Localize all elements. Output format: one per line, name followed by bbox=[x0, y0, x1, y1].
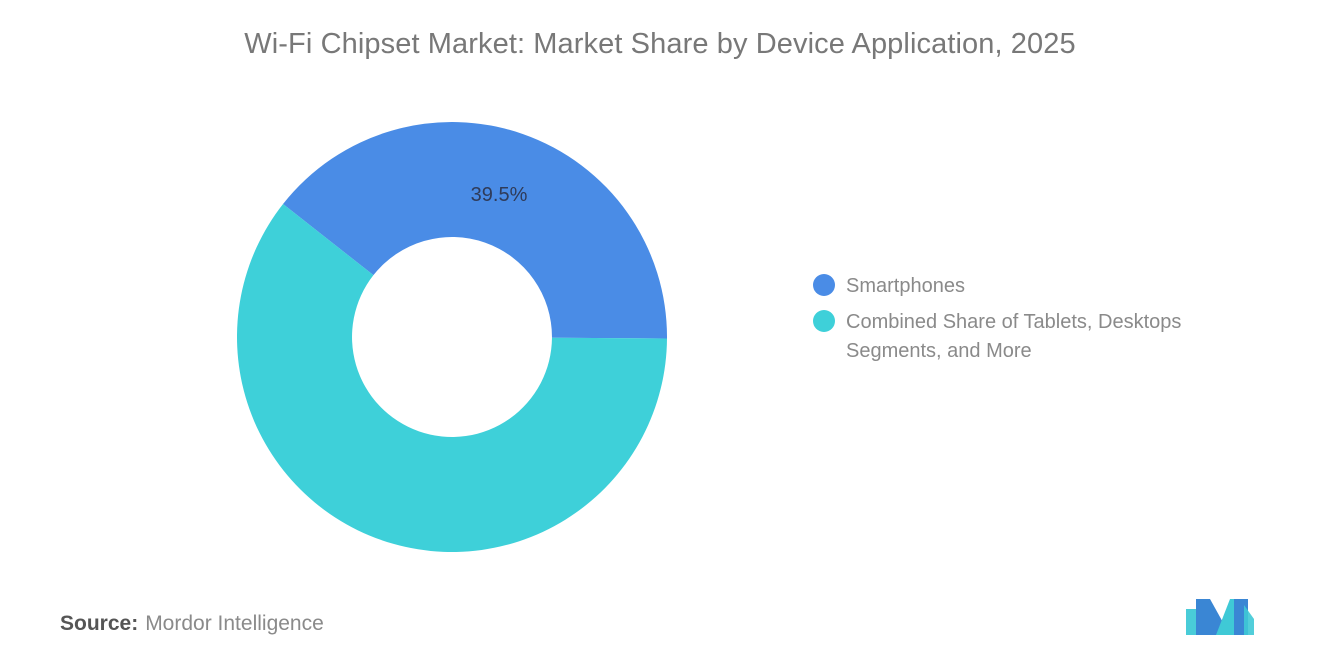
mordor-intelligence-logo-icon bbox=[1184, 597, 1256, 637]
donut-svg bbox=[237, 122, 667, 552]
chart-canvas: Wi-Fi Chipset Market: Market Share by De… bbox=[0, 0, 1320, 665]
source-line: Source:Mordor Intelligence bbox=[60, 612, 324, 636]
source-value: Mordor Intelligence bbox=[145, 612, 324, 635]
logo-svg bbox=[1184, 597, 1256, 637]
legend-swatch-combined-share bbox=[813, 310, 835, 332]
donut-chart: 39.5% bbox=[237, 122, 667, 552]
legend-swatch-smartphones bbox=[813, 274, 835, 296]
legend-item-smartphones[interactable]: Smartphones bbox=[813, 272, 1273, 301]
chart-title: Wi-Fi Chipset Market: Market Share by De… bbox=[0, 28, 1320, 61]
chart-legend: Smartphones Combined Share of Tablets, D… bbox=[813, 272, 1273, 373]
source-label: Source: bbox=[60, 612, 138, 635]
donut-slices bbox=[237, 122, 667, 552]
legend-item-combined-share[interactable]: Combined Share of Tablets, Desktops Segm… bbox=[813, 308, 1273, 366]
legend-label-smartphones: Smartphones bbox=[846, 272, 965, 301]
legend-label-combined-share: Combined Share of Tablets, Desktops Segm… bbox=[846, 308, 1181, 366]
